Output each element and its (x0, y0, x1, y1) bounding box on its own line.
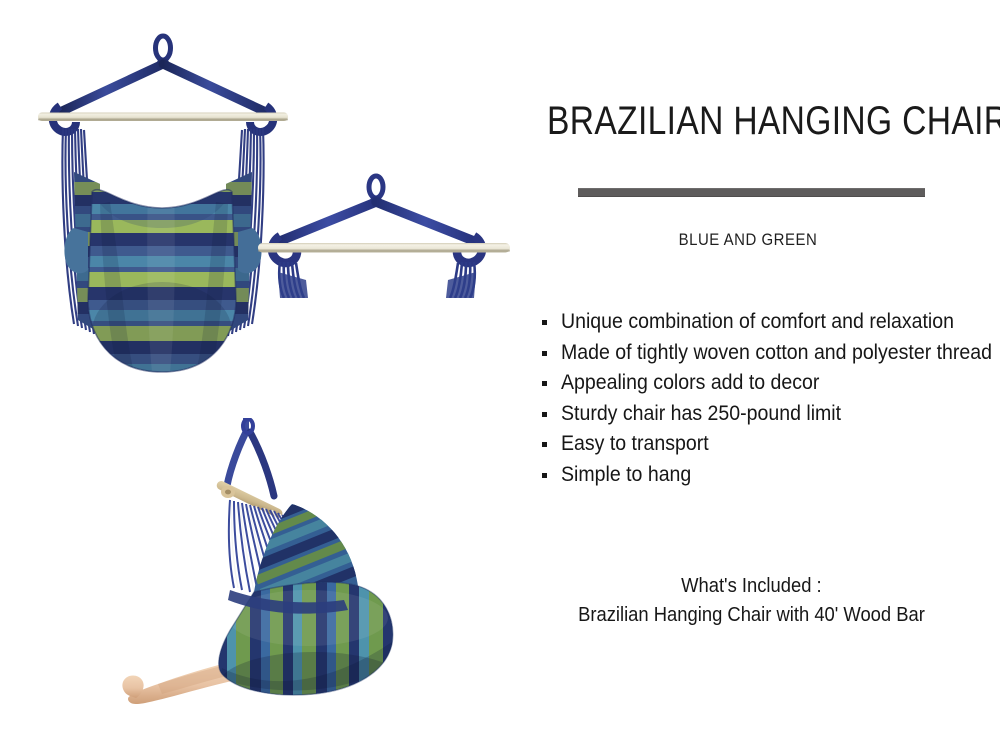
feature-list: Unique combination of comfort and relaxa… (534, 310, 994, 493)
list-item: Unique combination of comfort and relaxa… (534, 310, 994, 341)
feature-text: Simple to hang (561, 463, 691, 487)
bullet-icon (542, 442, 547, 447)
list-item: Made of tightly woven cotton and polyest… (534, 341, 994, 372)
bullet-icon (542, 320, 547, 325)
whats-included-block: What's Included : Brazilian Hanging Chai… (520, 572, 982, 630)
feature-text: Sturdy chair has 250-pound limit (561, 402, 841, 426)
bullet-icon (542, 473, 547, 478)
whats-included-heading: What's Included : (520, 572, 982, 601)
chair-in-use-illustration (118, 418, 418, 710)
product-photo-spreader-bar (258, 168, 510, 298)
color-variant-label: BLUE AND GREEN (547, 230, 948, 250)
spreader-bar-illustration (258, 168, 510, 298)
bullet-icon (542, 381, 547, 386)
bullet-icon (542, 351, 547, 356)
page-title: BRAZILIAN HANGING CHAIR (547, 100, 908, 142)
title-divider (578, 188, 925, 197)
chair-front-illustration (30, 32, 295, 402)
product-info-panel: BRAZILIAN HANGING CHAIR BLUE AND GREEN U… (520, 0, 1000, 750)
product-marketing-page: BRAZILIAN HANGING CHAIR BLUE AND GREEN U… (0, 0, 1000, 750)
whats-included-item-text: Brazilian Hanging Chair with 40' Wood Ba… (578, 601, 925, 630)
feature-text: Easy to transport (561, 432, 709, 456)
bullet-icon (542, 412, 547, 417)
list-item: Simple to hang (534, 463, 994, 494)
list-item: Sturdy chair has 250-pound limit (534, 402, 994, 433)
feature-text: Made of tightly woven cotton and polyest… (561, 341, 992, 365)
feature-text: Unique combination of comfort and relaxa… (561, 310, 954, 334)
product-photo-in-use (118, 418, 418, 710)
whats-included-item: Brazilian Hanging Chair with 40' Wood Ba… (520, 601, 982, 630)
list-item: Easy to transport (534, 432, 994, 463)
product-photo-front-view (30, 32, 295, 402)
list-item: Appealing colors add to decor (534, 371, 994, 402)
feature-text: Appealing colors add to decor (561, 371, 819, 395)
whats-included-heading-text: What's Included : (681, 572, 822, 601)
